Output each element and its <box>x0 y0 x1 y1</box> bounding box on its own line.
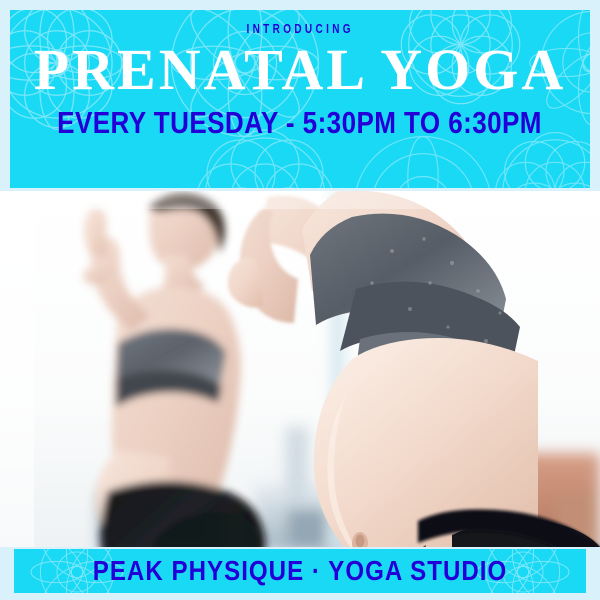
header-band: INTRODUCING PRENATAL YOGA EVERY TUESDAY … <box>10 10 590 188</box>
schedule-text: EVERY TUESDAY - 5:30PM TO 6:30PM <box>58 107 543 138</box>
hero-photo-image <box>0 191 600 547</box>
footer-band: PEAK PHYSIQUE · YOGA STUDIO <box>14 549 586 593</box>
page-title: PRENATAL YOGA <box>34 40 567 100</box>
hero-photo <box>0 191 600 547</box>
header-text-group: INTRODUCING PRENATAL YOGA EVERY TUESDAY … <box>10 10 590 188</box>
poster-canvas: INTRODUCING PRENATAL YOGA EVERY TUESDAY … <box>0 0 600 600</box>
studio-name: PEAK PHYSIQUE · YOGA STUDIO <box>93 557 508 585</box>
kicker-text: INTRODUCING <box>246 23 354 36</box>
